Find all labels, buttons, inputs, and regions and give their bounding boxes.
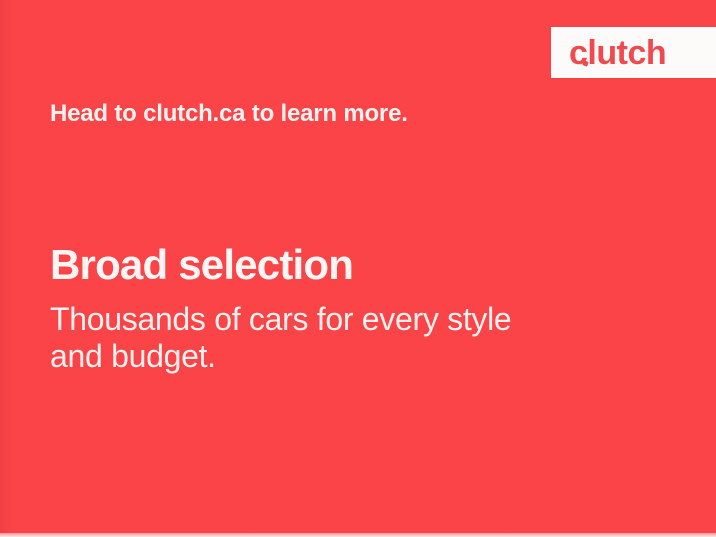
headline-text: Broad selection xyxy=(50,241,353,289)
promo-slide: c lutch Head to clutch.ca to learn more.… xyxy=(0,0,716,537)
clutch-logo-plate: c lutch xyxy=(551,27,716,78)
clutch-logo-c-glyph: c xyxy=(569,36,587,70)
subheadline-line-2: and budget. xyxy=(50,338,610,375)
kicker-text: Head to clutch.ca to learn more. xyxy=(50,100,408,128)
clutch-logo-remainder: lutch xyxy=(587,36,666,70)
subheadline-text: Thousands of cars for every style and bu… xyxy=(50,301,610,375)
left-edge-shadow xyxy=(0,0,12,537)
bottom-edge-strip xyxy=(0,533,716,537)
subheadline-line-1: Thousands of cars for every style xyxy=(50,301,610,338)
clutch-logo-wordmark: c lutch xyxy=(569,34,666,71)
